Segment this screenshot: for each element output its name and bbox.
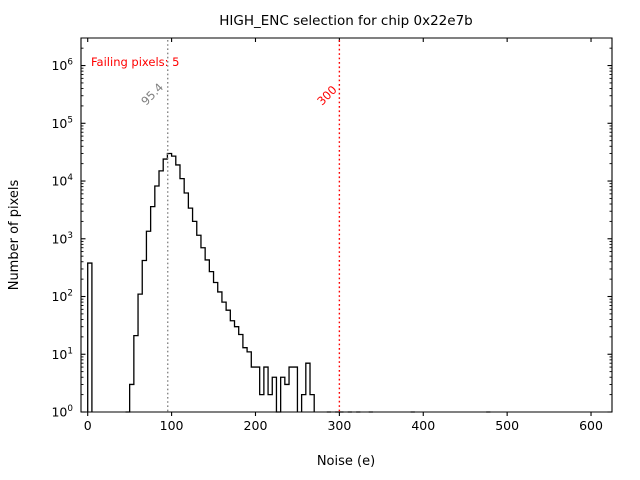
chart-figure: 0100200300400500600100101102103104105106… (0, 0, 640, 480)
histogram-plot: 0100200300400500600100101102103104105106… (0, 0, 640, 480)
threshold-line-label: 300 (314, 83, 339, 108)
histogram-steps (88, 153, 491, 412)
failing-pixels-annotation: Failing pixels: 5 (91, 55, 180, 69)
x-tick-label: 500 (495, 418, 519, 433)
y-tick-label: 102 (51, 289, 73, 305)
x-tick-label: 200 (244, 418, 268, 433)
y-tick-label: 104 (51, 173, 73, 189)
mean-line-label: 95.4 (138, 80, 166, 108)
y-tick-label: 106 (51, 58, 73, 74)
x-axis-label: Noise (e) (317, 454, 375, 469)
x-tick-label: 0 (84, 418, 92, 433)
x-tick-label: 400 (411, 418, 435, 433)
x-tick-label: 300 (327, 418, 351, 433)
chart-title: HIGH_ENC selection for chip 0x22e7b (219, 13, 472, 29)
y-tick-label: 100 (51, 404, 73, 420)
x-tick-label: 100 (160, 418, 184, 433)
x-tick-label: 600 (579, 418, 603, 433)
y-tick-label: 105 (51, 115, 73, 131)
y-tick-label: 103 (51, 231, 73, 247)
y-tick-label: 101 (51, 346, 73, 362)
y-axis-label: Number of pixels (7, 179, 22, 290)
